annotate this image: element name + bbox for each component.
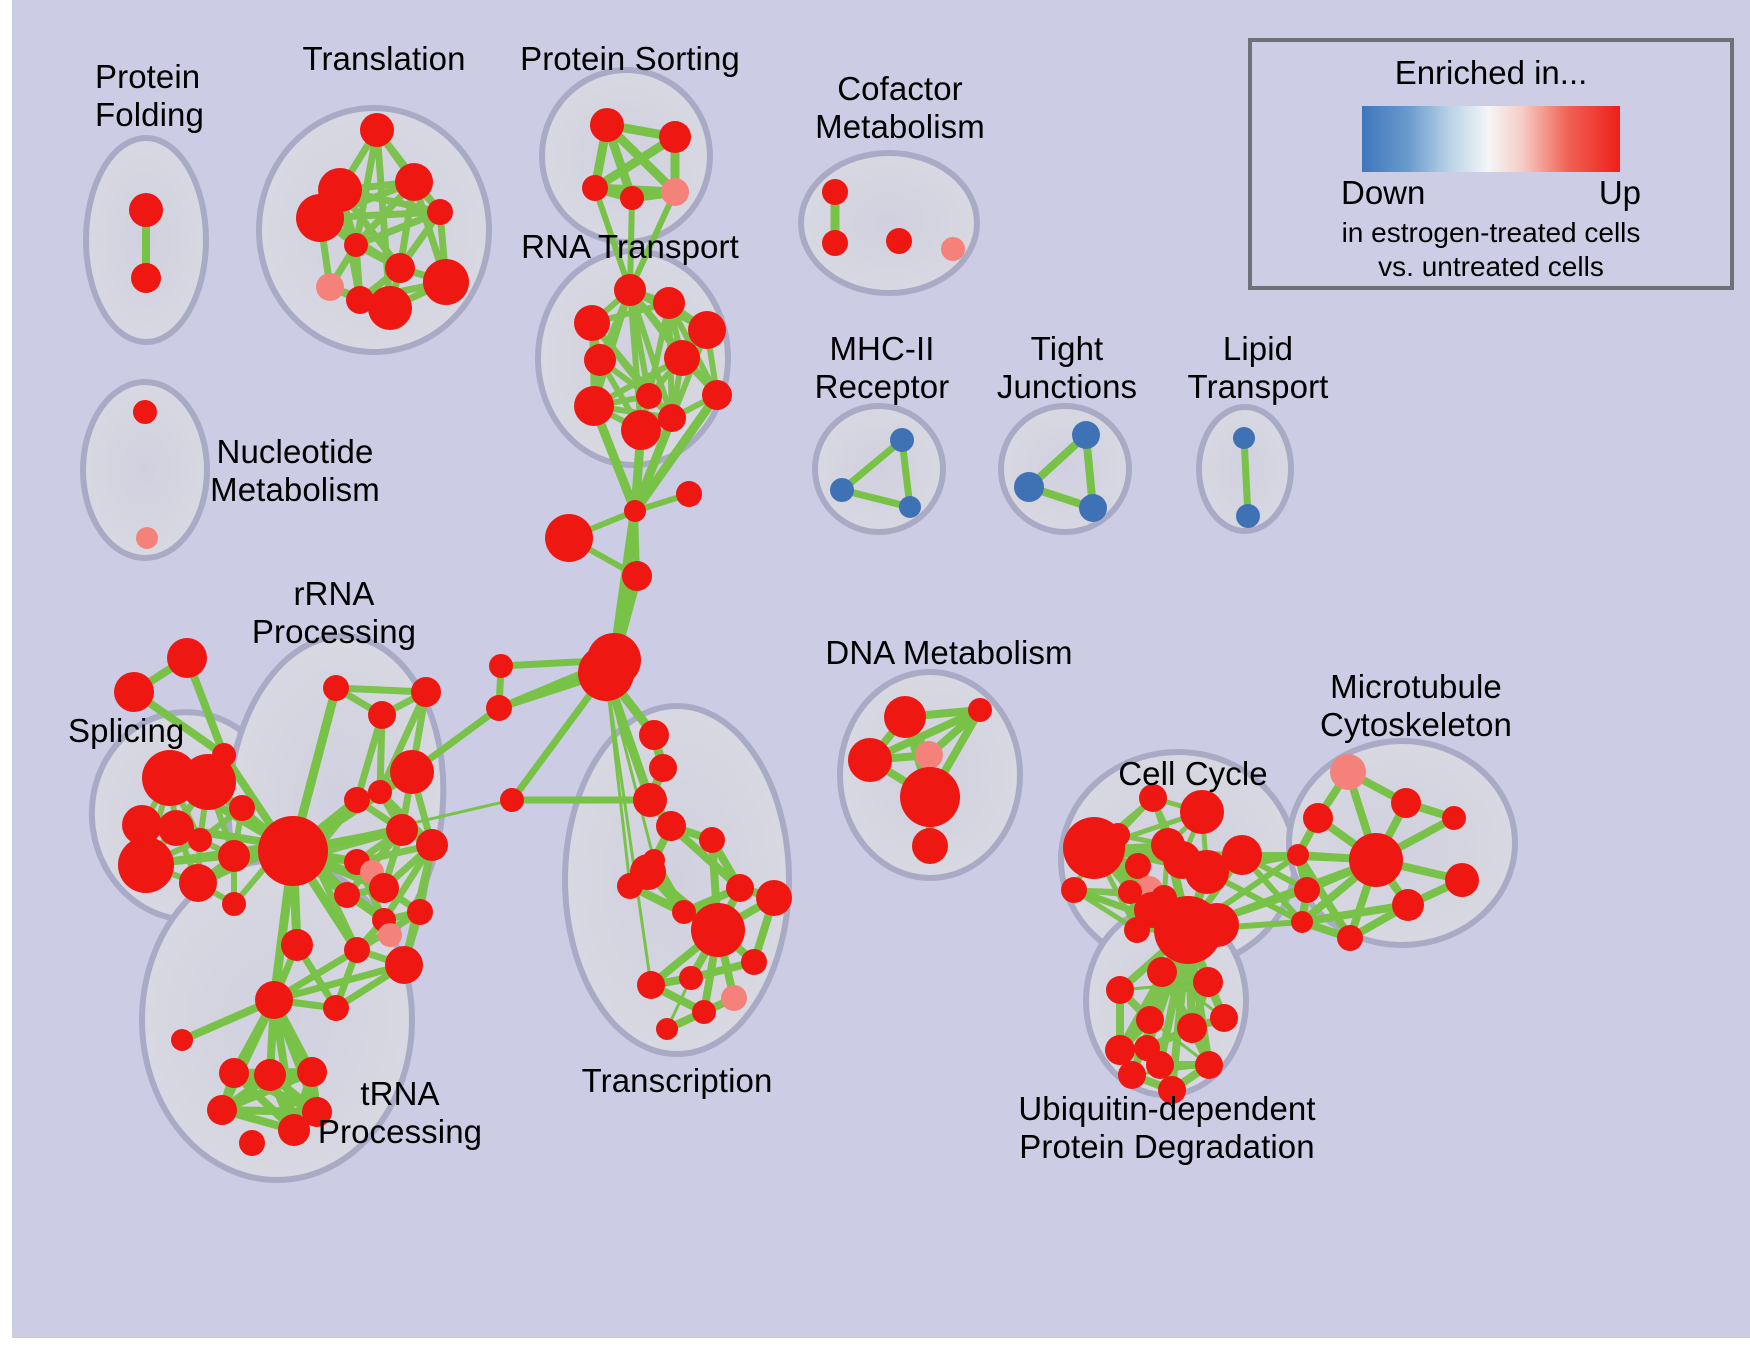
node-down bbox=[830, 478, 854, 502]
node-up bbox=[1177, 1013, 1207, 1043]
cluster-label-protein-sorting: Protein Sorting bbox=[520, 40, 740, 78]
node-up bbox=[254, 1059, 286, 1091]
legend-up-label: Up bbox=[1599, 174, 1641, 212]
node-up bbox=[582, 175, 608, 201]
node-up bbox=[900, 767, 960, 827]
node-up bbox=[385, 253, 415, 283]
node-up bbox=[179, 864, 217, 902]
node-up bbox=[368, 701, 396, 729]
node-up bbox=[653, 287, 685, 319]
node-up bbox=[1106, 823, 1130, 847]
node-up bbox=[344, 787, 370, 813]
node-up bbox=[114, 672, 154, 712]
node-up bbox=[1146, 1051, 1174, 1079]
cluster-label-translation: Translation bbox=[302, 40, 465, 78]
node-up bbox=[656, 1018, 678, 1040]
node-up-mid bbox=[915, 741, 943, 769]
node-up bbox=[1180, 790, 1224, 834]
node-up-mid bbox=[941, 237, 965, 261]
node-up bbox=[1303, 803, 1333, 833]
node-up bbox=[369, 873, 399, 903]
node-up bbox=[1349, 833, 1403, 887]
node-up bbox=[486, 695, 512, 721]
node-down bbox=[1233, 427, 1255, 449]
node-up bbox=[255, 981, 293, 1019]
node-up bbox=[679, 966, 703, 990]
legend-box: Enriched in... Down Up in estrogen-treat… bbox=[1248, 38, 1734, 290]
cluster-label-cofactor-metabolism: Cofactor Metabolism bbox=[815, 70, 985, 146]
node-up bbox=[702, 380, 732, 410]
node-up bbox=[360, 113, 394, 147]
blob-cofactor-metabolism bbox=[801, 153, 977, 293]
node-up bbox=[848, 738, 892, 782]
node-up-mid bbox=[661, 178, 689, 206]
node-up bbox=[637, 971, 665, 999]
node-up bbox=[1442, 806, 1466, 830]
node-up bbox=[1391, 788, 1421, 818]
node-up bbox=[258, 816, 328, 886]
node-up bbox=[500, 788, 524, 812]
node-up bbox=[386, 814, 418, 846]
node-up bbox=[171, 1029, 193, 1051]
node-up bbox=[884, 696, 926, 738]
blob-mhc-ii-receptor bbox=[815, 406, 943, 532]
legend-caption-line2: vs. untreated cells bbox=[1252, 250, 1730, 284]
node-up bbox=[1106, 976, 1134, 1004]
node-up bbox=[427, 199, 453, 225]
node-up bbox=[672, 900, 696, 924]
node-up bbox=[822, 179, 848, 205]
cluster-label-microtubule-cytoskeleton: Microtubule Cytoskeleton bbox=[1320, 668, 1512, 744]
cluster-label-protein-folding: Protein Folding bbox=[95, 58, 204, 134]
node-up bbox=[578, 645, 634, 701]
node-up bbox=[649, 754, 677, 782]
node-down bbox=[1014, 472, 1044, 502]
node-up bbox=[188, 828, 212, 852]
node-up bbox=[219, 1058, 249, 1088]
node-up bbox=[659, 121, 691, 153]
node-up bbox=[239, 1130, 265, 1156]
cluster-label-trna-processing: tRNA Processing bbox=[318, 1075, 482, 1151]
node-up bbox=[617, 873, 643, 899]
cluster-label-nucleotide-metabolism: Nucleotide Metabolism bbox=[210, 433, 380, 509]
node-up bbox=[1392, 889, 1424, 921]
node-up bbox=[133, 400, 157, 424]
node-up-mid bbox=[316, 273, 344, 301]
node-up bbox=[1193, 967, 1223, 997]
node-up bbox=[658, 404, 686, 432]
node-up bbox=[621, 410, 661, 450]
cluster-label-splicing: Splicing bbox=[68, 712, 184, 750]
node-up bbox=[643, 849, 665, 871]
node-up bbox=[222, 892, 246, 916]
node-up-mid bbox=[721, 985, 747, 1011]
node-up bbox=[407, 899, 433, 925]
node-up bbox=[390, 750, 434, 794]
node-up bbox=[968, 698, 992, 722]
node-up bbox=[416, 829, 448, 861]
node-up bbox=[423, 259, 469, 305]
cluster-label-tight-junctions: Tight Junctions bbox=[997, 330, 1137, 406]
node-up bbox=[741, 949, 767, 975]
node-up bbox=[344, 937, 370, 963]
node-up bbox=[1195, 903, 1239, 947]
node-up bbox=[692, 1000, 716, 1024]
node-up-mid bbox=[136, 527, 158, 549]
node-up bbox=[167, 638, 207, 678]
cluster-label-mhc-ii-receptor: MHC-II Receptor bbox=[815, 330, 950, 406]
cluster-label-dna-metabolism: DNA Metabolism bbox=[825, 634, 1072, 672]
node-down bbox=[890, 428, 914, 452]
blob-protein-sorting bbox=[542, 70, 710, 242]
node-up bbox=[676, 481, 702, 507]
cluster-label-transcription: Transcription bbox=[582, 1062, 773, 1100]
node-up bbox=[756, 880, 792, 916]
node-up-mid bbox=[378, 923, 402, 947]
node-up bbox=[574, 386, 614, 426]
node-up bbox=[584, 344, 616, 376]
node-up bbox=[656, 811, 686, 841]
node-up bbox=[886, 228, 912, 254]
node-down bbox=[899, 496, 921, 518]
blob-tight-junctions bbox=[1001, 406, 1129, 532]
node-up bbox=[368, 780, 392, 804]
node-up bbox=[726, 874, 754, 902]
node-up bbox=[229, 795, 255, 821]
node-up bbox=[620, 186, 644, 210]
node-up bbox=[624, 500, 646, 522]
cluster-label-ubiquitin-protein-degradation: Ubiquitin-dependent Protein Degradation bbox=[1018, 1090, 1315, 1166]
node-up bbox=[614, 274, 646, 306]
node-up bbox=[1118, 1061, 1146, 1089]
legend-caption-line1: in estrogen-treated cells bbox=[1252, 216, 1730, 250]
node-up bbox=[574, 305, 610, 341]
cluster-label-rrna-processing: rRNA Processing bbox=[252, 575, 416, 651]
node-up bbox=[822, 230, 848, 256]
node-up bbox=[699, 827, 725, 853]
node-up bbox=[323, 995, 349, 1021]
node-up bbox=[131, 263, 161, 293]
node-up bbox=[639, 720, 669, 750]
legend-down-label: Down bbox=[1341, 174, 1425, 212]
legend-title: Enriched in... bbox=[1252, 54, 1730, 92]
node-up bbox=[489, 654, 513, 678]
node-down bbox=[1072, 421, 1100, 449]
node-up bbox=[590, 108, 624, 142]
node-up bbox=[334, 882, 360, 908]
node-up bbox=[368, 286, 412, 330]
legend-endpoints: Down Up bbox=[1341, 174, 1641, 212]
legend-color-gradient bbox=[1362, 106, 1620, 172]
node-up bbox=[633, 783, 667, 817]
node-up bbox=[1294, 877, 1320, 903]
node-up bbox=[1136, 1006, 1164, 1034]
node-up bbox=[1147, 957, 1177, 987]
node-up bbox=[218, 840, 250, 872]
node-up bbox=[411, 677, 441, 707]
node-up bbox=[912, 828, 948, 864]
node-up bbox=[545, 514, 593, 562]
node-up bbox=[344, 233, 368, 257]
node-up bbox=[180, 754, 236, 810]
node-up bbox=[281, 929, 313, 961]
node-down bbox=[1079, 494, 1107, 522]
node-up bbox=[1337, 925, 1363, 951]
node-up bbox=[323, 675, 349, 701]
node-up bbox=[207, 1095, 237, 1125]
node-up bbox=[1291, 911, 1313, 933]
node-up bbox=[1125, 853, 1151, 879]
node-up bbox=[1195, 1051, 1223, 1079]
node-up bbox=[118, 837, 174, 893]
network-plot-area: Protein Folding Translation Protein Sort… bbox=[12, 0, 1750, 1338]
cluster-label-lipid-transport: Lipid Transport bbox=[1188, 330, 1329, 406]
node-up bbox=[129, 193, 163, 227]
node-up bbox=[691, 903, 745, 957]
node-up bbox=[296, 194, 344, 242]
node-up bbox=[1445, 863, 1479, 897]
cluster-label-rna-transport: RNA Transport bbox=[521, 228, 739, 266]
node-up bbox=[1222, 835, 1262, 875]
cluster-label-cell-cycle: Cell Cycle bbox=[1118, 755, 1268, 793]
node-up bbox=[1210, 1004, 1238, 1032]
node-up bbox=[1287, 844, 1309, 866]
node-up bbox=[395, 163, 433, 201]
figure-canvas: Protein Folding Translation Protein Sort… bbox=[0, 0, 1750, 1360]
node-down bbox=[1236, 504, 1260, 528]
node-up bbox=[1105, 1035, 1135, 1065]
node-up bbox=[622, 561, 652, 591]
node-up-mid bbox=[1330, 754, 1366, 790]
node-up bbox=[1061, 877, 1087, 903]
node-up bbox=[385, 946, 423, 984]
node-up bbox=[664, 340, 700, 376]
node-up bbox=[636, 383, 662, 409]
node-up bbox=[688, 311, 726, 349]
node-up bbox=[1124, 917, 1150, 943]
